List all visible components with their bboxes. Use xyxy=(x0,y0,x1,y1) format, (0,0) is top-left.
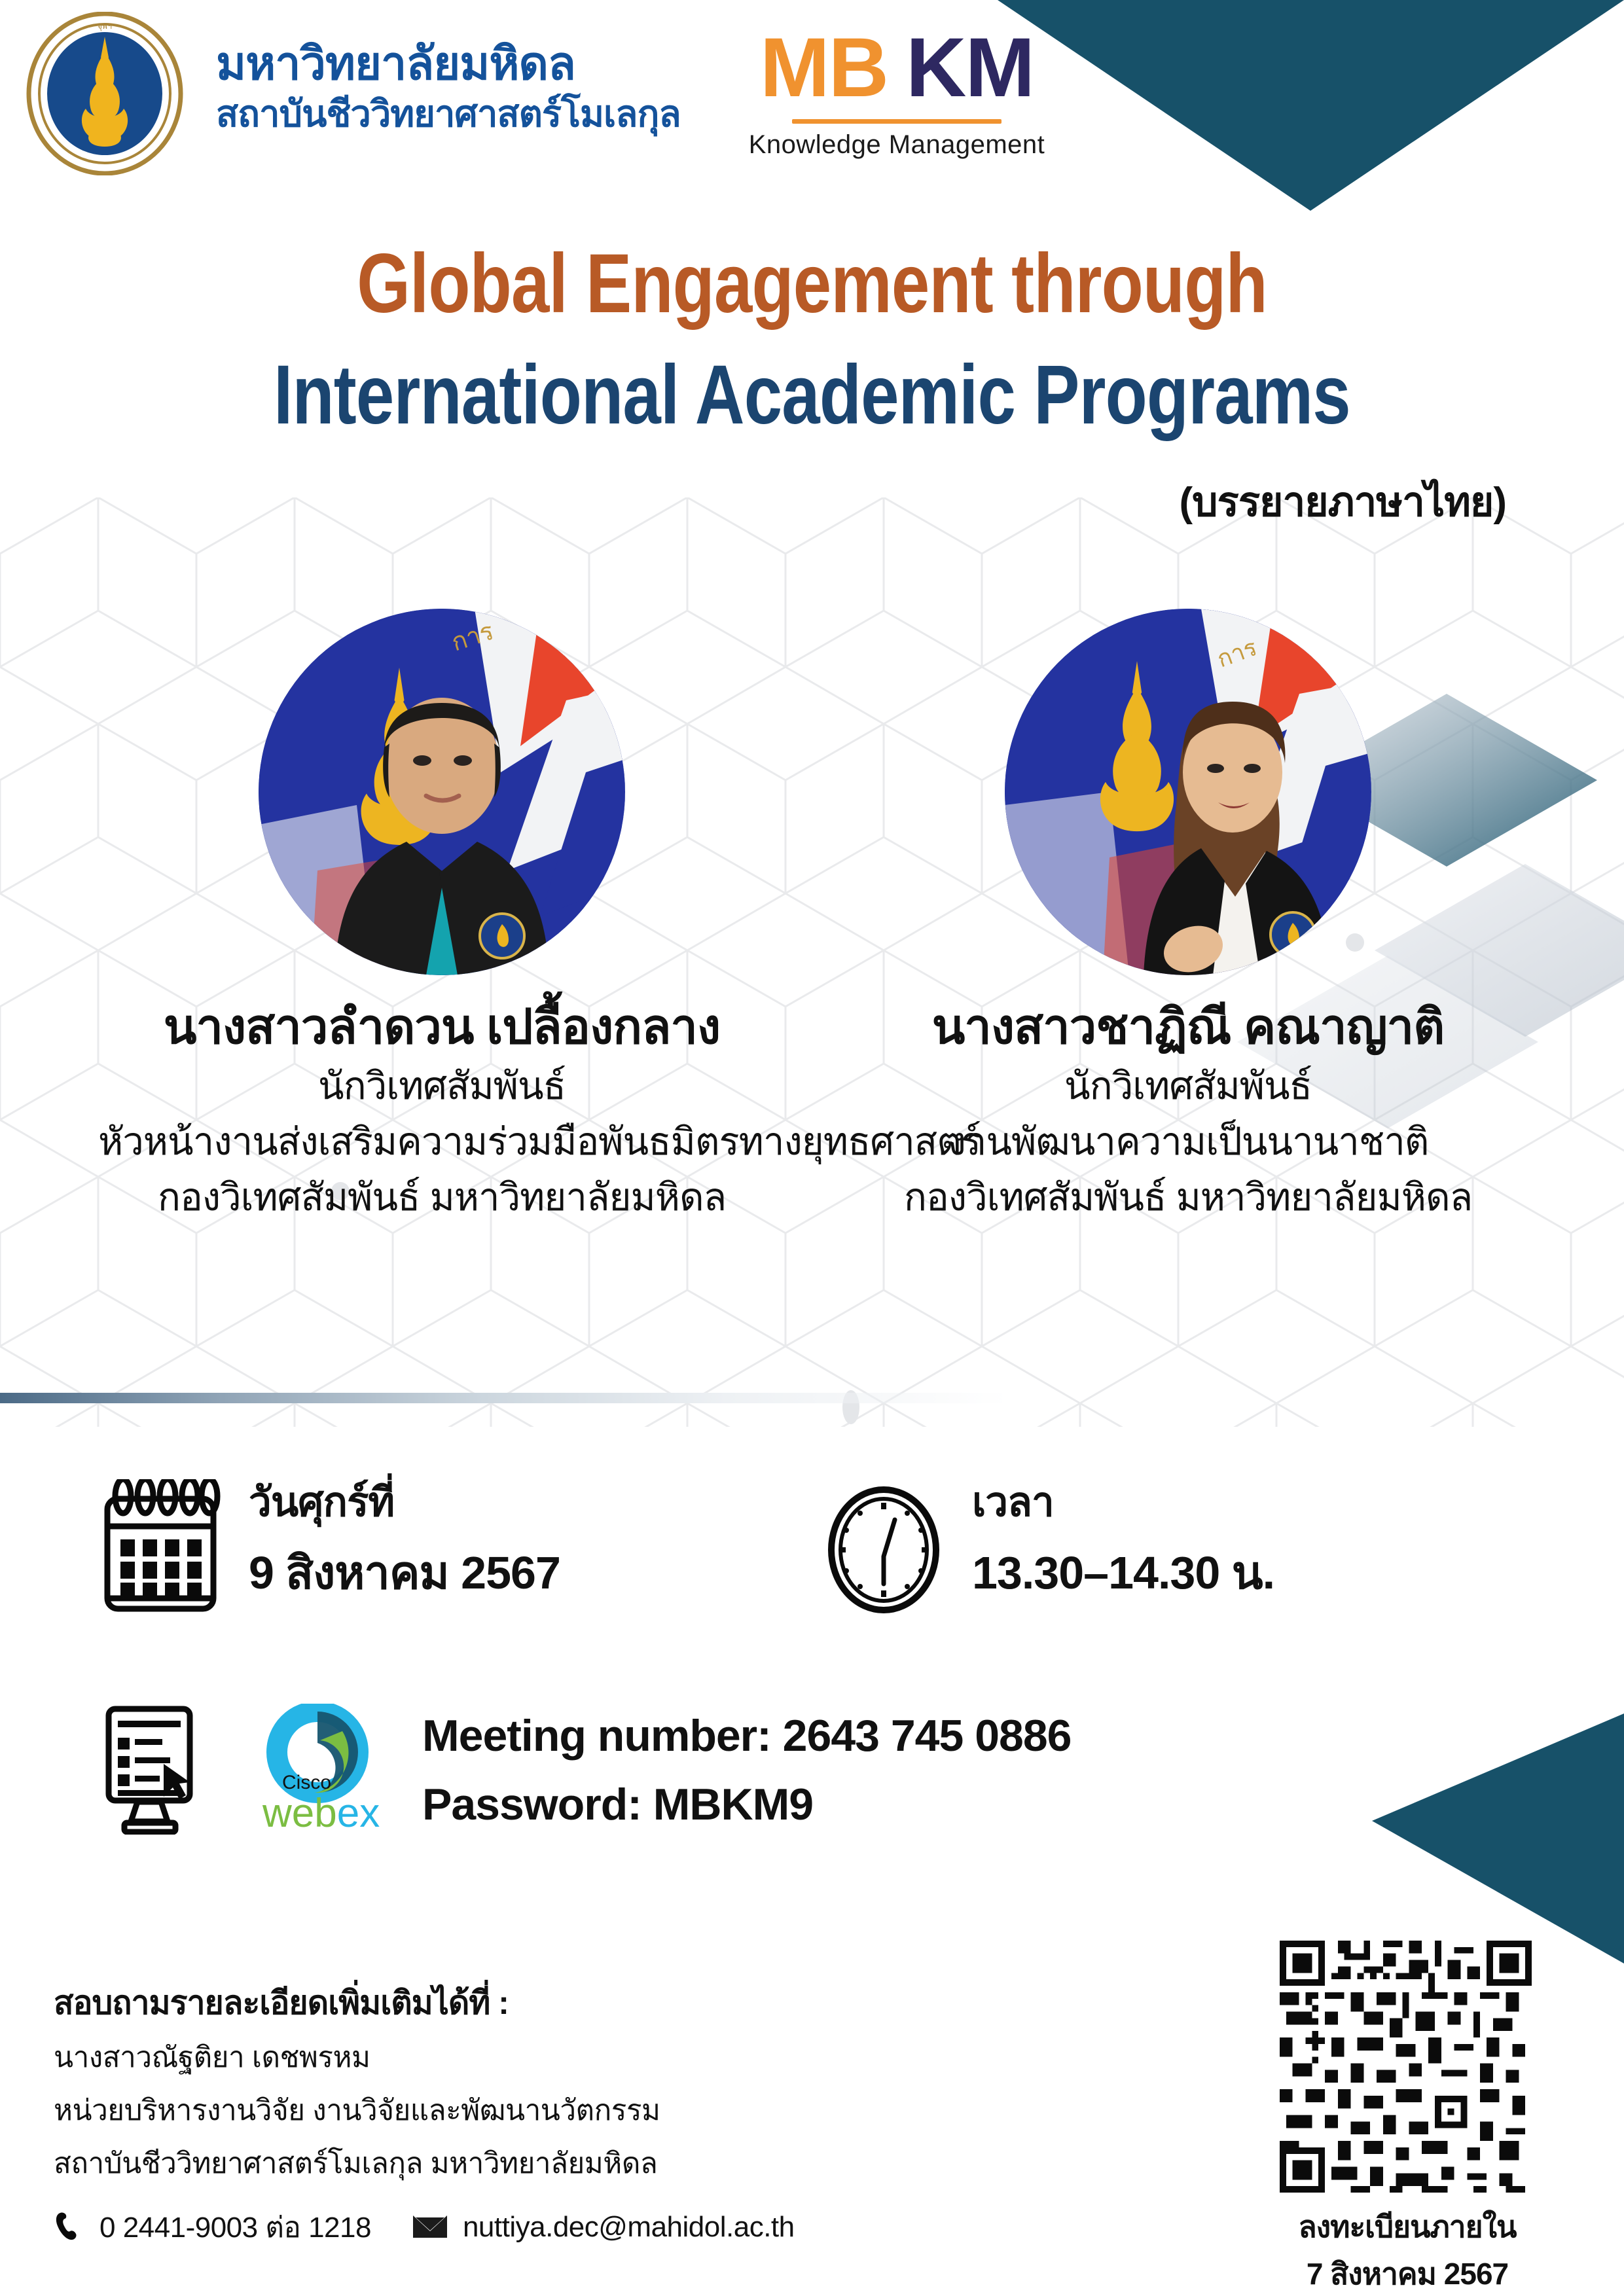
speaker-role: นักวิเทศสัมพันธ์ xyxy=(844,1065,1532,1109)
registration-caption-line2: 7 สิงหาคม 2567 xyxy=(1273,2255,1542,2293)
speaker-portrait-icon: การ xyxy=(259,609,625,975)
svg-text:webex: webex xyxy=(262,1791,380,1835)
svg-text:จุฬฯ: จุฬฯ xyxy=(98,22,112,31)
event-date-row: วันศุกร์ที่ 9 สิงหาคม 2567 xyxy=(98,1479,560,1620)
university-name-line2: สถาบันชีววิทยาศาสตร์โมเลกุล xyxy=(216,93,681,135)
cisco-webex-logo: Cisco webex xyxy=(252,1704,383,1838)
poster-header: จุฬฯ มหาวิทยาลัยมหิดล สถาบันชีววิทยาศาสต… xyxy=(0,0,1624,196)
speaker-card-2: การ xyxy=(844,609,1532,1219)
speaker-org: กองวิเทศสัมพันธ์ มหาวิทยาลัยมหิดล xyxy=(98,1176,785,1220)
speaker-unit: งานพัฒนาความเป็นนานาชาติ xyxy=(844,1121,1532,1164)
qr-code-icon[interactable] xyxy=(1273,1934,1542,2199)
speaker-unit: หัวหน้างานส่งเสริมความร่วมมือพันธมิตรทาง… xyxy=(98,1121,785,1164)
university-name-line1: มหาวิทยาลัยมหิดล xyxy=(216,39,681,89)
registration-block: ลงทะเบียนภายใน 7 สิงหาคม 2567 xyxy=(1273,1934,1542,2293)
event-time-value: 13.30–14.30 น. xyxy=(972,1547,1274,1600)
meeting-password: Password: MBKM9 xyxy=(422,1770,1071,1839)
speakers-section: การ xyxy=(0,609,1624,1342)
poster-canvas: จุฬฯ มหาวิทยาลัยมหิดล สถาบันชีววิทยาศาสต… xyxy=(0,0,1624,2296)
mbkm-logo-subtitle: Knowledge Management xyxy=(704,130,1090,160)
contact-heading: สอบถามรายละเอียดเพิ่มเติมได้ที่ : xyxy=(54,1983,1101,2022)
registration-caption-line1: ลงทะเบียนภายใน xyxy=(1273,2208,1542,2246)
event-time-row: เวลา 13.30–14.30 น. xyxy=(821,1479,1274,1620)
contact-person: นางสาวณัฐติยา เดชพรหม xyxy=(54,2041,1101,2075)
mbkm-logo-km: KM xyxy=(906,21,1034,115)
presentation-screen-icon xyxy=(98,1704,219,1838)
contact-unit: หน่วยบริหารงานวิจัย งานวิจัยและพัฒนานวัต… xyxy=(54,2094,1101,2128)
contact-email[interactable]: nuttiya.dec@mahidol.ac.th xyxy=(412,2210,795,2245)
event-date-value: 9 สิงหาคม 2567 xyxy=(249,1547,560,1600)
meeting-row: Cisco webex Meeting number: 2643 745 088… xyxy=(98,1702,1071,1840)
mahidol-seal-icon: จุฬฯ xyxy=(23,12,187,175)
poster-title: Global Engagement through International … xyxy=(0,242,1624,437)
speaker-card-1: การ xyxy=(98,609,785,1219)
speaker-org: กองวิเทศสัมพันธ์ มหาวิทยาลัยมหิดล xyxy=(844,1176,1532,1220)
speaker-name: นางสาวลำดวน เปลื้องกลาง xyxy=(98,1000,785,1053)
section-divider xyxy=(0,1393,1008,1403)
speaker-portrait-icon: การ xyxy=(1005,609,1371,975)
university-name: มหาวิทยาลัยมหิดล สถาบันชีววิทยาศาสตร์โมเ… xyxy=(216,39,681,135)
speaker-name: นางสาวชาฏิณี คณาญาติ xyxy=(844,1000,1532,1053)
contact-phone-text: 0 2441-9003 ต่อ 1218 xyxy=(99,2204,371,2250)
title-subtitle-thai: (บรรยายภาษาไทย) xyxy=(0,470,1624,534)
contact-phone[interactable]: 0 2441-9003 ต่อ 1218 xyxy=(54,2204,371,2250)
mbkm-logo: MBKM Knowledge Management xyxy=(704,26,1090,160)
teal-triangle-bottom-decor xyxy=(1372,1702,1624,1964)
envelope-icon xyxy=(412,2210,448,2245)
title-line-1: Global Engagement through xyxy=(146,242,1477,326)
title-line-2: International Academic Programs xyxy=(146,353,1477,437)
clock-icon xyxy=(821,1479,946,1620)
calendar-icon xyxy=(98,1479,223,1620)
speaker-role: นักวิเทศสัมพันธ์ xyxy=(98,1065,785,1109)
mbkm-logo-rule xyxy=(792,119,1001,124)
event-time-label: เวลา xyxy=(972,1479,1274,1526)
mbkm-logo-mb: MB xyxy=(760,21,888,115)
phone-icon xyxy=(54,2210,85,2245)
event-date-label: วันศุกร์ที่ xyxy=(249,1479,560,1526)
contact-email-text: nuttiya.dec@mahidol.ac.th xyxy=(463,2211,795,2244)
meeting-number: Meeting number: 2643 745 0886 xyxy=(422,1702,1071,1770)
contact-org: สถาบันชีววิทยาศาสตร์โมเลกุล มหาวิทยาลัยม… xyxy=(54,2147,1101,2181)
contact-section: สอบถามรายละเอียดเพิ่มเติมได้ที่ : นางสาว… xyxy=(54,1983,1101,2250)
